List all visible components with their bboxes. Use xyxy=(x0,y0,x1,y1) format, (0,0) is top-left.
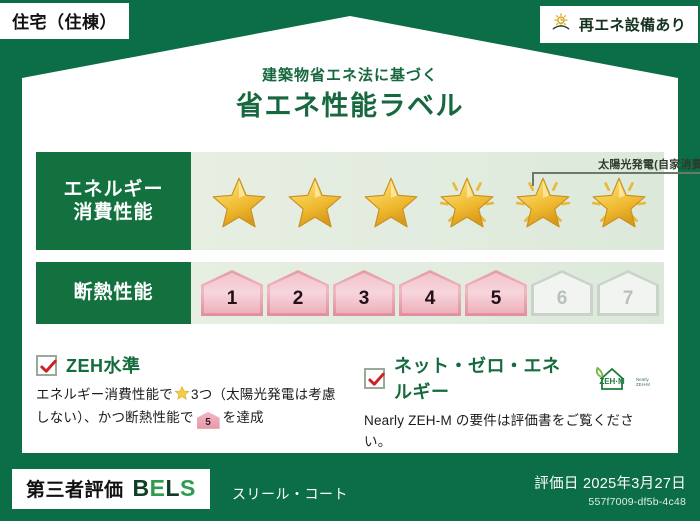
star-icon xyxy=(436,172,498,230)
zeh-body-part3: を達成 xyxy=(223,410,264,425)
net-zero-energy-claim: ネット・ゼロ・エネルギー ZEH·M Nearly ZEH-M Nearly Z… xyxy=(350,352,664,453)
solar-caption: 太陽光発電(自家消費)分 xyxy=(532,156,700,172)
insulation-level-6: 6 xyxy=(531,270,593,316)
evaluation-date-value: 2025年3月27日 xyxy=(583,476,686,492)
energy-rating-area: 太陽光発電(自家消費)分 xyxy=(191,152,664,250)
zeh-standard-checkbox[interactable] xyxy=(36,355,57,376)
label-title: 省エネ性能ラベル xyxy=(0,84,700,123)
energy-consumption-row: エネルギー 消費性能 太陽光発電(自家消費)分 xyxy=(36,152,664,250)
insulation-level-group: 1234567 xyxy=(191,262,664,324)
solar-bracket xyxy=(532,172,700,186)
svg-text:ZEH·M: ZEH·M xyxy=(599,377,625,386)
insulation-level-number: 1 xyxy=(227,288,238,310)
inline-star-icon xyxy=(174,385,190,408)
evaluation-date-label: 評価日 xyxy=(534,476,578,492)
label-subtitle: 建築物省エネ法に基づく xyxy=(0,64,700,85)
zeh-standard-header: ZEH水準 xyxy=(36,352,340,378)
check-icon xyxy=(367,370,386,389)
evaluation-date: 評価日 2025年3月27日 xyxy=(534,472,686,493)
insulation-level-number: 7 xyxy=(623,288,634,310)
net-zero-title: ネット・ゼロ・エネルギー xyxy=(394,352,577,404)
star-2 xyxy=(277,152,353,250)
net-zero-checkbox[interactable] xyxy=(364,368,385,389)
insulation-level-7: 7 xyxy=(597,270,659,316)
third-party-eval-label: 第三者評価 xyxy=(26,475,124,502)
zeh-standard-title: ZEH水準 xyxy=(66,352,141,378)
star-icon xyxy=(284,172,346,230)
bels-letter-l: L xyxy=(165,475,180,501)
energy-label-line2: 消費性能 xyxy=(73,201,153,224)
bels-letter-e: E xyxy=(150,475,166,501)
bels-logo: BELS xyxy=(133,475,196,502)
insulation-level-3: 3 xyxy=(333,270,395,316)
evaluation-date-block: 評価日 2025年3月27日 557f7009-df5b-4c48 xyxy=(534,472,686,508)
star-1 xyxy=(201,152,277,250)
insulation-level-5: 5 xyxy=(465,270,527,316)
insulation-level-2: 2 xyxy=(267,270,329,316)
insulation-rating-area: 1234567 xyxy=(191,262,664,324)
bels-letter-s: S xyxy=(180,475,196,501)
check-icon xyxy=(39,357,58,376)
insulation-performance-row: 断熱性能 1234567 xyxy=(36,262,664,324)
insulation-level-number: 2 xyxy=(293,288,304,310)
footer-bar: 第三者評価 BELS スリール・コート 評価日 2025年3月27日 557f7… xyxy=(0,461,700,521)
star-icon xyxy=(208,172,270,230)
building-name: スリール・コート xyxy=(232,484,348,504)
bels-letter-b: B xyxy=(133,475,150,501)
zeh-standard-claim: ZEH水準 エネルギー消費性能で 3つ（太陽光発電は考慮しない）、かつ断熱性能で… xyxy=(36,352,350,453)
record-id: 557f7009-df5b-4c48 xyxy=(534,496,686,508)
sun-icon xyxy=(550,11,572,38)
zeh-m-logo: ZEH·M Nearly ZEH-M xyxy=(592,362,654,394)
insulation-level-number: 4 xyxy=(425,288,436,310)
net-zero-header: ネット・ゼロ・エネルギー ZEH·M Nearly ZEH-M xyxy=(364,352,654,404)
insulation-level-number: 5 xyxy=(491,288,502,310)
svg-text:ZEH-M: ZEH-M xyxy=(636,382,650,387)
energy-label-line1: エネルギー xyxy=(63,178,163,201)
inline-badge-number: 5 xyxy=(197,412,220,434)
star-icon xyxy=(360,172,422,230)
star-3 xyxy=(353,152,429,250)
net-zero-body: Nearly ZEH-M の要件は評価書をご覧ください。 xyxy=(364,411,654,453)
building-type-tag: 住宅（住棟） xyxy=(0,3,129,39)
energy-performance-label: 住宅（住棟） 再エネ設備あり 建築物省エネ法に基づく 省エネ性能ラベル エネルギ… xyxy=(0,0,700,521)
bels-plate: 第三者評価 BELS xyxy=(12,469,210,509)
insulation-label: 断熱性能 xyxy=(36,262,191,324)
insulation-level-number: 3 xyxy=(359,288,370,310)
insulation-level-number: 6 xyxy=(557,288,568,310)
claims-section: ZEH水準 エネルギー消費性能で 3つ（太陽光発電は考慮しない）、かつ断熱性能で… xyxy=(36,352,664,453)
zeh-standard-body: エネルギー消費性能で 3つ（太陽光発電は考慮しない）、かつ断熱性能で 5 を達成 xyxy=(36,385,340,429)
insulation-level-1: 1 xyxy=(201,270,263,316)
renewable-badge-label: 再エネ設備あり xyxy=(579,14,686,35)
energy-consumption-label: エネルギー 消費性能 xyxy=(36,152,191,250)
insulation-level-4: 4 xyxy=(399,270,461,316)
star-4 xyxy=(429,152,505,250)
renewable-energy-badge: 再エネ設備あり xyxy=(540,6,698,43)
zeh-body-part1: エネルギー消費性能で xyxy=(36,387,173,402)
inline-insulation-badge: 5 xyxy=(197,412,220,429)
